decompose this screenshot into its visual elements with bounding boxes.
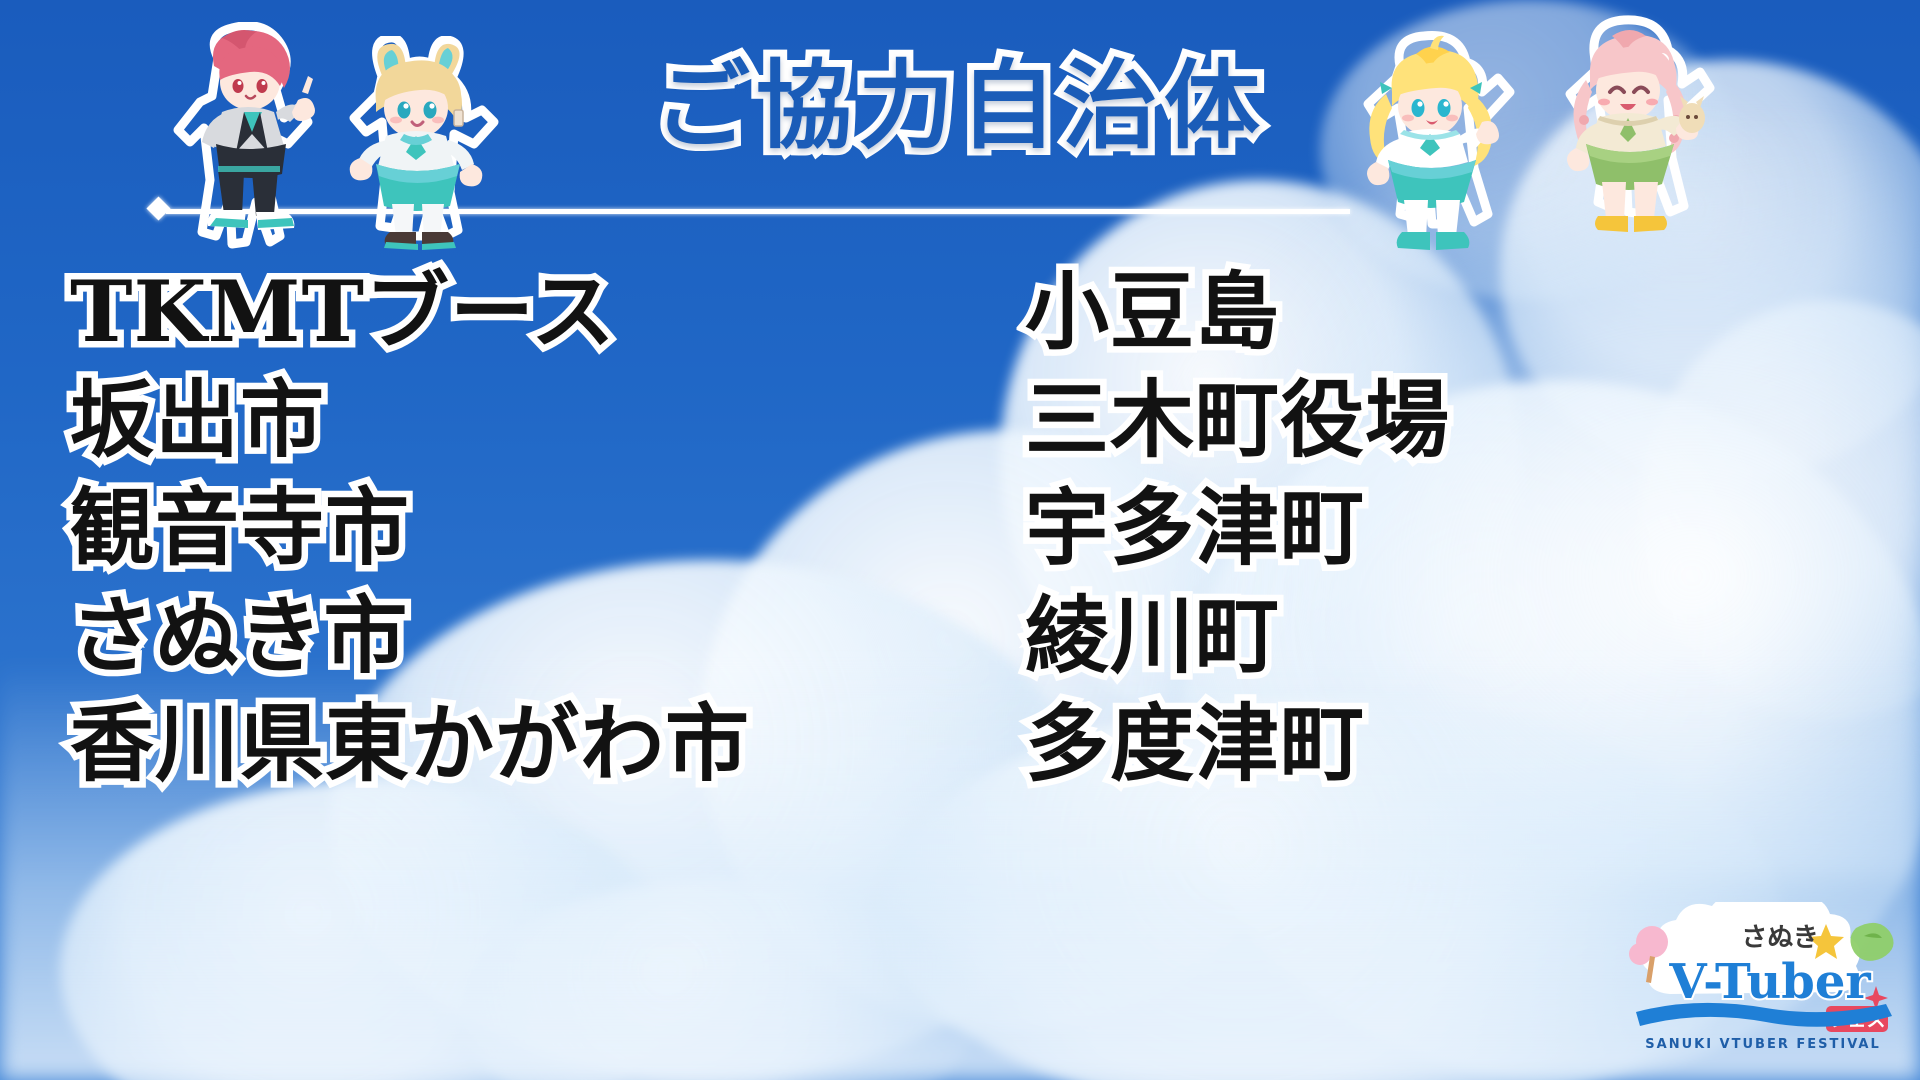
municipality-item: TKMTブース bbox=[70, 258, 1025, 366]
municipality-item: 香川県東かがわ市 bbox=[70, 690, 1025, 798]
municipality-item: 宇多津町 bbox=[1025, 474, 1545, 582]
chibi-character-blonde-bunny-sticker bbox=[322, 36, 512, 256]
municipality-list: TKMTブース 坂出市 観音寺市 さぬき市 香川県東かがわ市 小豆島 三木町役場… bbox=[70, 258, 1550, 798]
logo-line1: さぬき bbox=[1741, 923, 1818, 953]
municipality-item: さぬき市 bbox=[70, 582, 1025, 690]
slide-canvas: ご協力自治体 bbox=[0, 0, 1920, 1080]
sanuki-vtuber-festival-logo: さぬき V-Tuber フェス SANUKI VTUBER FESTIVAL bbox=[1620, 902, 1906, 1070]
chibi-character-red-hair-sticker bbox=[160, 22, 330, 252]
municipality-item: 坂出市 bbox=[70, 366, 1025, 474]
municipality-item: 小豆島 bbox=[1025, 258, 1545, 366]
municipality-item: 多度津町 bbox=[1025, 690, 1545, 798]
logo-line2: V-Tuber bbox=[1668, 954, 1871, 1010]
municipality-item: 観音寺市 bbox=[70, 474, 1025, 582]
municipality-column-right: 小豆島 三木町役場 宇多津町 綾川町 多度津町 bbox=[1025, 258, 1545, 798]
municipality-item: 三木町役場 bbox=[1025, 366, 1545, 474]
chibi-character-cyan-twintails-sticker bbox=[1330, 30, 1530, 270]
logo-tagline: SANUKI VTUBER FESTIVAL bbox=[1645, 1037, 1880, 1052]
municipality-column-left: TKMTブース 坂出市 観音寺市 さぬき市 香川県東かがわ市 bbox=[70, 258, 1025, 798]
chibi-character-pink-braids-sticker bbox=[1528, 14, 1728, 254]
municipality-item: 綾川町 bbox=[1025, 582, 1545, 690]
